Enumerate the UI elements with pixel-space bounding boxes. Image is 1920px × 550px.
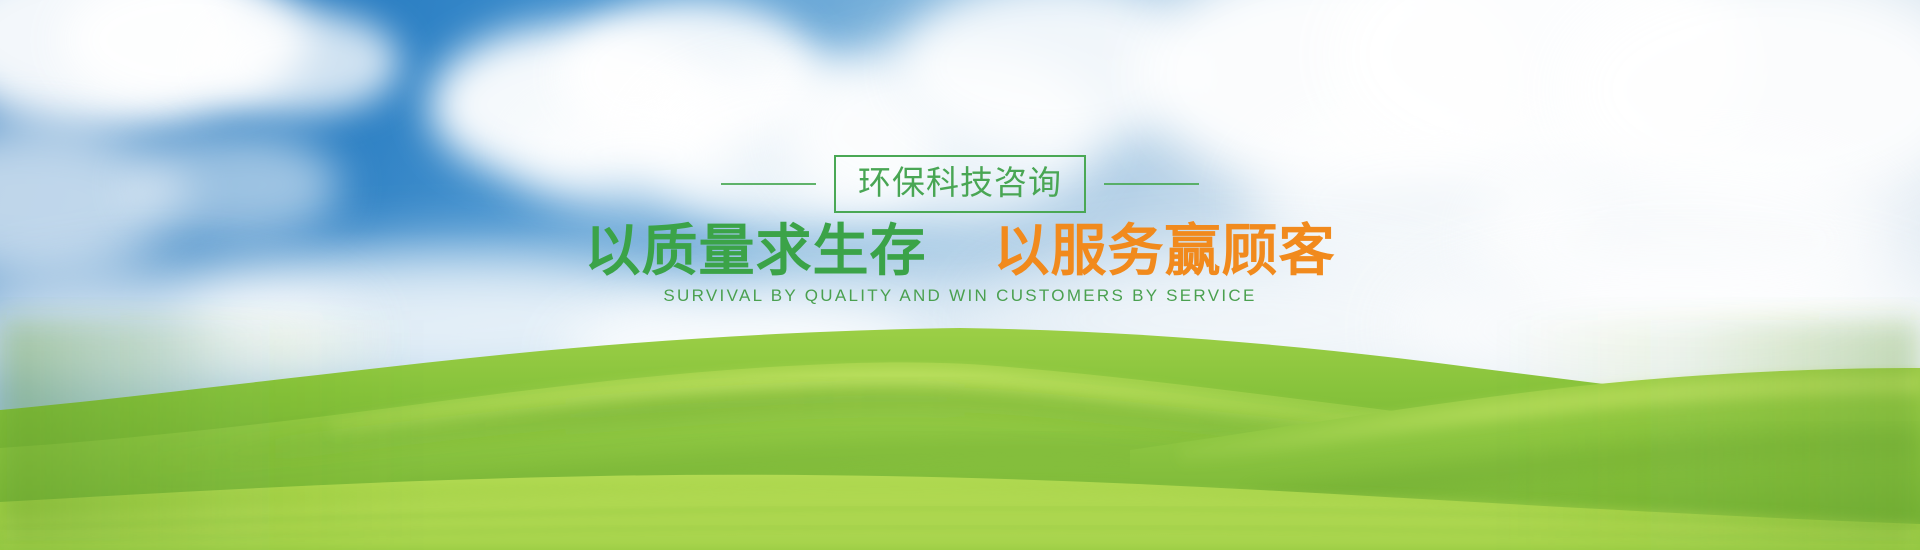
- grass-hills: [0, 280, 1920, 550]
- decorative-line-right: [1104, 183, 1199, 185]
- headline: 以质量求生存 以服务赢顾客: [0, 222, 1920, 282]
- eyebrow-label: 环保科技咨询: [858, 166, 1062, 199]
- hero-banner: 环保科技咨询 以质量求生存 以服务赢顾客 SURVIVAL BY QUALITY…: [0, 0, 1920, 550]
- headline-green-segment: 以质量求生存: [585, 219, 927, 284]
- subtitle-english: SURVIVAL BY QUALITY AND WIN CUSTOMERS BY…: [0, 286, 1920, 306]
- eyebrow-box: 环保科技咨询: [834, 155, 1086, 213]
- headline-orange-segment: 以服务赢顾客: [994, 219, 1336, 284]
- decorative-line-left: [721, 183, 816, 185]
- eyebrow-row: 环保科技咨询: [0, 155, 1920, 213]
